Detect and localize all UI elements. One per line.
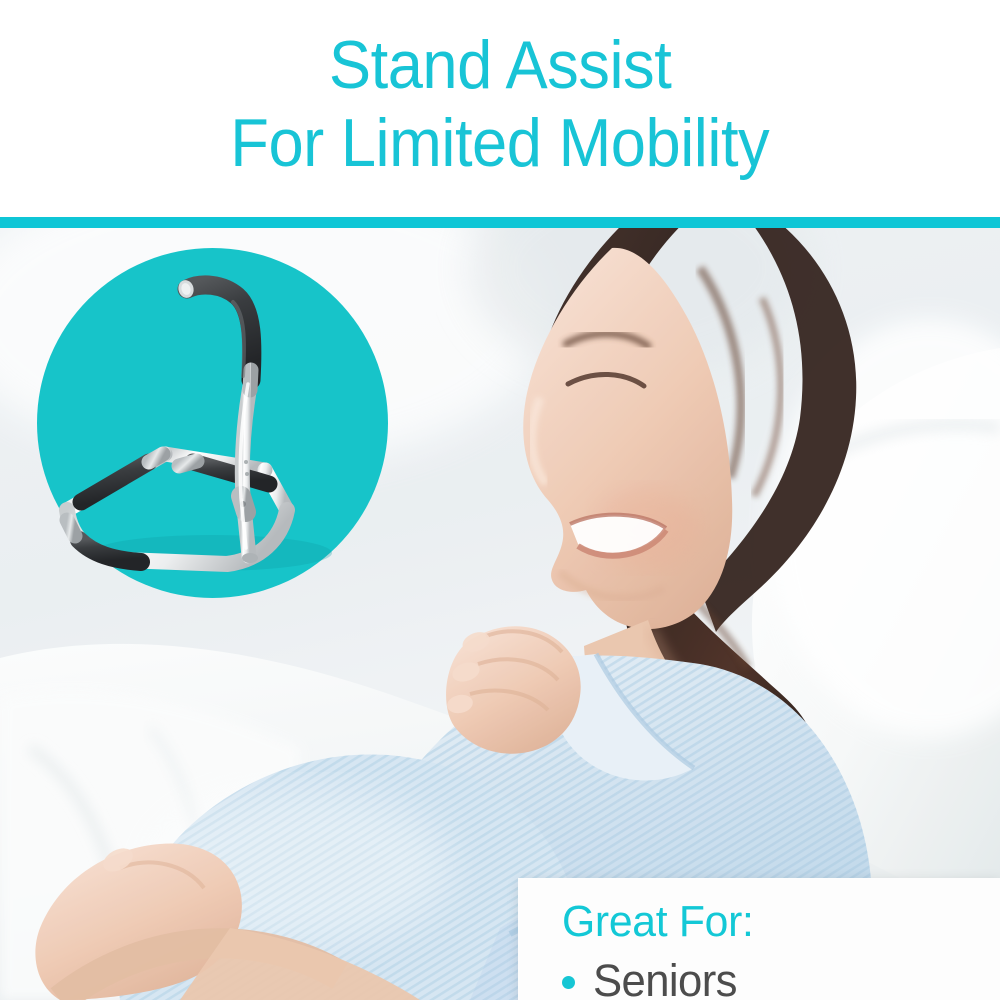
great-for-heading: Great For: bbox=[562, 896, 987, 948]
benefits-list: Seniors Injury Recovery Fall Prevention … bbox=[562, 952, 1000, 1000]
bullet-dot-icon bbox=[562, 976, 575, 989]
great-for-card: Great For: Seniors Injury Recovery Fall … bbox=[518, 878, 1000, 1000]
list-item-label: Seniors bbox=[593, 955, 737, 1000]
page-title-line-1: Stand Assist bbox=[329, 26, 671, 104]
header: Stand Assist For Limited Mobility bbox=[0, 0, 1000, 217]
product-marketing-banner: Stand Assist For Limited Mobility bbox=[0, 0, 1000, 1000]
hero-photo: Great For: Seniors Injury Recovery Fall … bbox=[0, 228, 1000, 1000]
stand-assist-bed-rail-icon bbox=[37, 248, 388, 598]
list-item: Seniors bbox=[562, 952, 1000, 1000]
header-divider-bar bbox=[0, 217, 1000, 228]
page-title-line-2: For Limited Mobility bbox=[231, 104, 770, 182]
product-inset bbox=[37, 248, 388, 598]
